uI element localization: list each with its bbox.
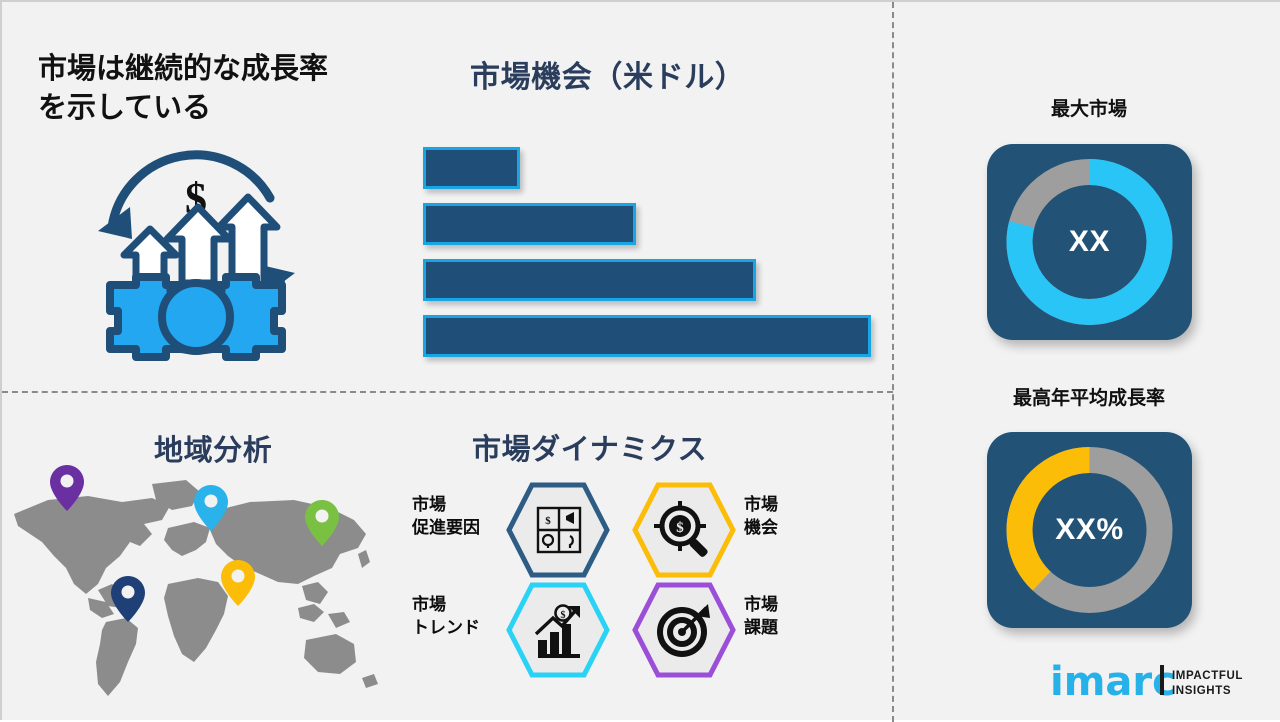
logo-tagline-line2: INSIGHTS bbox=[1172, 685, 1231, 697]
svg-text:$: $ bbox=[545, 515, 551, 527]
largest-market-label: 最大市場 bbox=[959, 94, 1219, 121]
logo-wordmark: imarc bbox=[1050, 659, 1176, 705]
largest-market-value: XX bbox=[987, 144, 1192, 340]
bar-3 bbox=[423, 259, 756, 301]
highest-cagr-label: 最高年平均成長率 bbox=[959, 383, 1219, 410]
pin-asia bbox=[305, 500, 339, 546]
logo-tagline-line1: IMPACTFUL bbox=[1172, 670, 1243, 682]
highest-cagr-card: XX% bbox=[987, 432, 1192, 628]
imarc-logo-mark: imarc IMPACTFUL INSIGHTS bbox=[1050, 657, 1250, 705]
dynamics-title: 市場ダイナミクス bbox=[472, 426, 707, 468]
bar-4 bbox=[423, 315, 871, 357]
dynamics-item-drivers[interactable]: 市場 促進要因 $ bbox=[402, 482, 632, 582]
hexagon-trends: $ bbox=[506, 582, 610, 678]
slide-canvas: 市場は継続的な成長率 を示している $ 市場機会（米ドル） 地域分析 bbox=[0, 0, 1280, 720]
growth-cycle-gear-icon: $ bbox=[74, 135, 319, 370]
bar-2 bbox=[423, 203, 636, 245]
market-opportunity-bar-chart bbox=[423, 147, 883, 352]
hexagon-opportunities: $ bbox=[632, 482, 736, 578]
svg-text:$: $ bbox=[676, 520, 684, 536]
dynamics-label-opportunities: 市場 機会 bbox=[744, 494, 778, 540]
largest-market-card: XX bbox=[987, 144, 1192, 340]
imarc-logo: imarc IMPACTFUL INSIGHTS bbox=[1050, 657, 1250, 705]
dynamics-item-trends[interactable]: 市場 トレンド $ bbox=[402, 582, 632, 682]
hexagon-challenges bbox=[632, 582, 736, 678]
world-map bbox=[2, 472, 402, 704]
dynamics-label-trends: 市場 トレンド bbox=[412, 594, 480, 640]
pin-south-america bbox=[111, 576, 145, 622]
growth-heading: 市場は継続的な成長率 を示している bbox=[38, 50, 328, 128]
logo-divider bbox=[1160, 665, 1164, 695]
dynamics-item-opportunities[interactable]: $ 市場 機会 bbox=[632, 482, 862, 582]
hexagon-drivers: $ bbox=[506, 482, 610, 578]
pin-middle-east-africa bbox=[221, 560, 255, 606]
highest-cagr-value: XX% bbox=[987, 432, 1192, 628]
dynamics-label-drivers: 市場 促進要因 bbox=[412, 494, 480, 540]
svg-text:$: $ bbox=[561, 610, 566, 621]
horizontal-divider bbox=[2, 391, 893, 393]
pin-north-america bbox=[50, 465, 84, 511]
pin-europe bbox=[194, 485, 228, 531]
regional-title: 地域分析 bbox=[154, 427, 272, 469]
vertical-divider bbox=[892, 2, 894, 722]
market-dynamics-group: 市場 促進要因 $ bbox=[402, 482, 862, 682]
dynamics-label-challenges: 市場 課題 bbox=[744, 594, 778, 640]
opportunity-title: 市場機会（米ドル） bbox=[470, 52, 745, 96]
bar-1 bbox=[423, 147, 520, 189]
dynamics-item-challenges[interactable]: 市場 課題 bbox=[632, 582, 862, 682]
